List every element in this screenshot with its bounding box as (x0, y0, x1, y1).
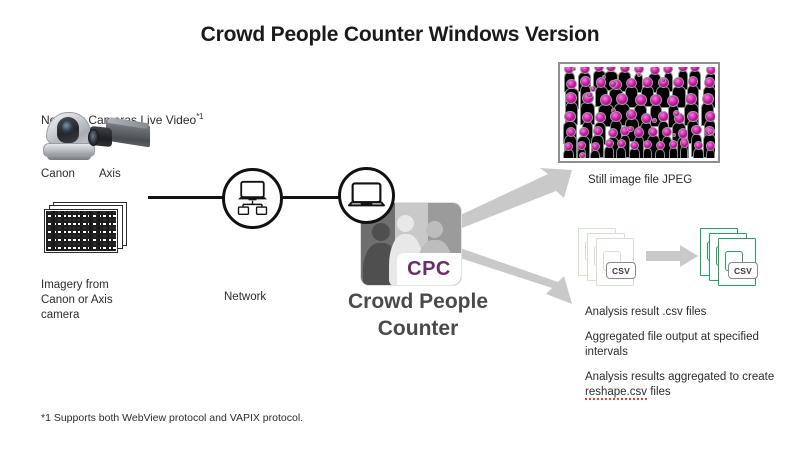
image-stack-icon (44, 202, 128, 254)
dome-camera-foot (47, 155, 91, 160)
head-detection-marker (637, 72, 642, 77)
csv-caption-3: Analysis results aggregated to create re… (585, 370, 785, 400)
footnote-marker: *1 (196, 112, 203, 121)
person-silhouette (604, 146, 614, 158)
head-detection-marker (669, 140, 678, 149)
csv-caption-1: Analysis result .csv files (585, 305, 706, 320)
csv-caption-3-suffix: files (647, 386, 671, 398)
person-silhouette (655, 149, 665, 158)
csv-caption-2: Aggregated file output at specified inte… (585, 330, 785, 360)
head-detection-marker (641, 113, 652, 124)
still-image-caption: Still image file JPEG (588, 173, 692, 188)
head-detection-marker (650, 94, 662, 106)
person-silhouette (643, 148, 652, 158)
logo-figure-head (397, 215, 414, 232)
network-laptop-icon (222, 168, 283, 229)
head-detection-marker (600, 94, 612, 106)
head-detection-marker (626, 78, 637, 89)
head-detection-marker (661, 78, 666, 83)
head-detection-marker (572, 67, 576, 71)
head-detection-marker (667, 95, 679, 107)
camera-label-canon: Canon (41, 167, 75, 182)
head-detection-marker (706, 141, 715, 150)
head-detection-marker (609, 80, 617, 88)
head-detection-marker (708, 129, 714, 135)
cpc-badge: CPC (397, 253, 461, 285)
head-detection-marker (642, 77, 653, 88)
network-icon-glyph (225, 171, 280, 226)
camera-label-axis: Axis (99, 167, 121, 182)
page-title: Crowd People Counter Windows Version (0, 23, 800, 47)
connection-line-right (283, 196, 341, 199)
head-detection-marker (685, 93, 697, 105)
person-silhouette (669, 147, 678, 158)
head-detection-marker (634, 127, 644, 137)
person-silhouette (616, 147, 627, 159)
head-detection-marker (687, 111, 698, 122)
arrow-down-right-icon (452, 248, 574, 310)
head-detection-marker (630, 141, 639, 150)
head-detection-marker (672, 133, 676, 137)
arrow-right-icon (646, 245, 698, 267)
head-detection-marker (579, 127, 589, 137)
logo-figure-head (426, 221, 443, 238)
crowd-detection-image (558, 62, 720, 163)
head-detection-marker (580, 67, 590, 74)
head-detection-marker (694, 141, 703, 150)
csv-filename: reshape.csv (585, 386, 647, 400)
footnote: *1 Supports both WebView protocol and VA… (41, 411, 303, 426)
arrow-up-right-icon (452, 168, 574, 230)
network-label: Network (224, 290, 266, 305)
logo-figure-head (372, 223, 390, 241)
crowd-pattern (46, 211, 116, 251)
head-detection-marker (564, 111, 575, 122)
connection-line-left (148, 196, 226, 199)
head-detection-marker (650, 67, 660, 75)
crowd-detection-canvas (563, 67, 715, 158)
head-detection-marker (582, 112, 593, 123)
laptop-icon-glyph (341, 170, 392, 221)
head-detection-marker (702, 93, 714, 105)
head-detection-marker (605, 139, 614, 148)
head-detection-marker (565, 92, 577, 104)
dome-camera-lens (62, 121, 74, 135)
imagery-caption: Imagery from Canon or Axis camera (41, 278, 113, 323)
box-camera-lens (88, 129, 99, 146)
csv-doc-front: CSV (596, 238, 634, 286)
head-detection-marker (704, 77, 715, 88)
head-detection-marker (688, 76, 699, 87)
head-detection-marker (590, 86, 596, 92)
head-detection-marker (680, 138, 689, 147)
head-detection-marker (591, 142, 600, 151)
person-silhouette (680, 146, 689, 158)
head-detection-marker (706, 67, 715, 75)
laptop-icon (338, 167, 395, 224)
csv-file-tag: CSV (606, 262, 636, 279)
head-detection-marker (564, 142, 573, 151)
box-camera-icon (88, 120, 150, 156)
head-detection-marker (691, 125, 701, 135)
head-detection-marker (635, 94, 647, 106)
csv-caption-3-prefix: Analysis results aggregated to create (585, 371, 774, 383)
head-detection-marker (662, 127, 672, 137)
csv-file-tag: CSV (728, 262, 758, 279)
slide-canvas: Crowd People Counter Windows Version Net… (0, 0, 800, 450)
head-detection-marker (705, 111, 715, 122)
head-detection-marker (678, 128, 688, 138)
head-detection-marker (617, 139, 626, 148)
csv-file-stack-right: CSV (700, 228, 762, 286)
csv-file-stack-left: CSV (578, 228, 640, 286)
head-detection-marker (566, 127, 576, 137)
image-sheet-front (44, 209, 118, 253)
head-detection-marker (579, 152, 586, 158)
head-detection-marker (586, 92, 592, 98)
csv-doc-front: CSV (718, 238, 756, 286)
head-detection-marker (652, 118, 657, 123)
head-detection-marker (580, 76, 591, 87)
head-detection-marker (577, 141, 586, 150)
